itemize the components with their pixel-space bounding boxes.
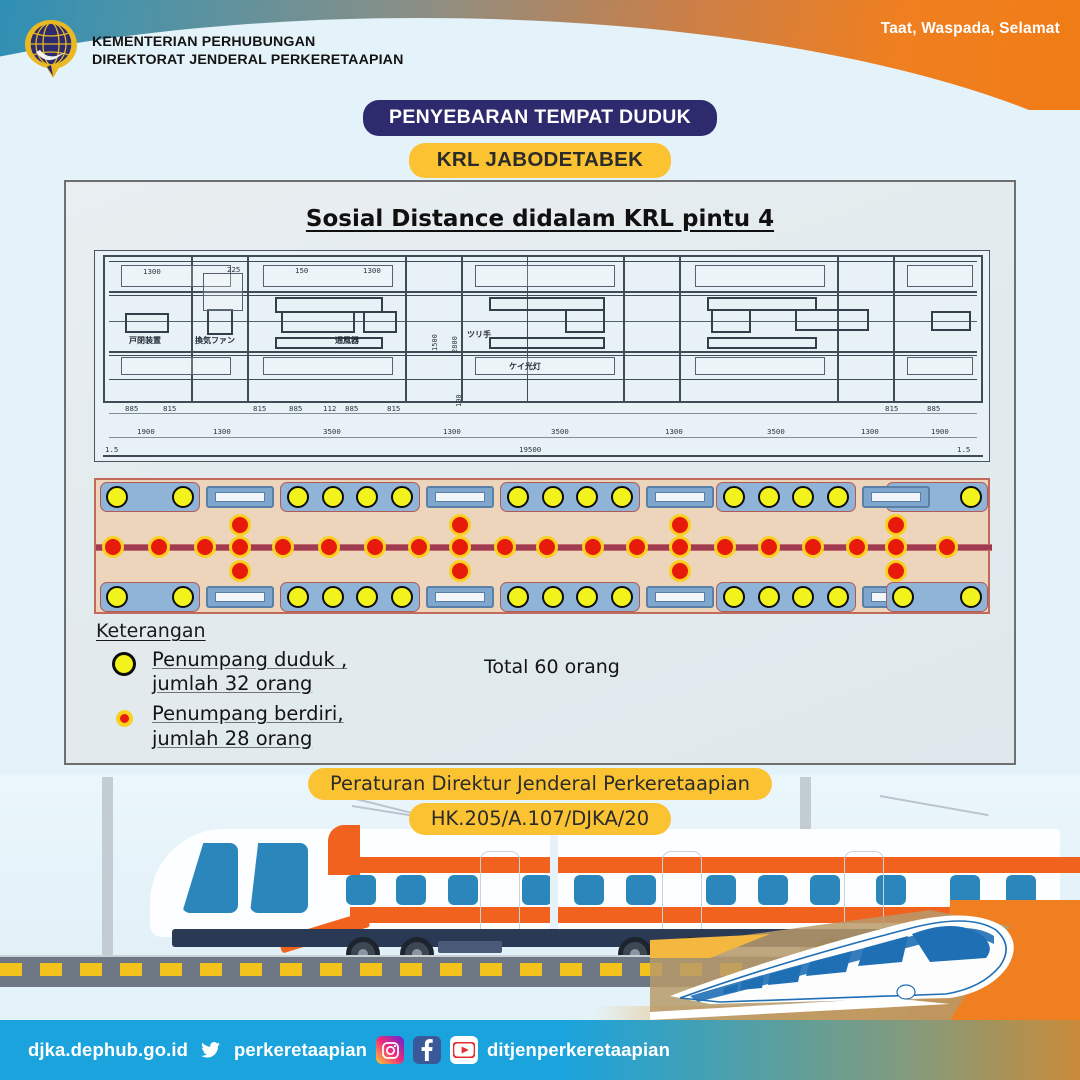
standing-marker <box>318 536 340 558</box>
legend-seated-text: Penumpang duduk , jumlah 32 orang <box>152 648 347 696</box>
bench-bottom-3 <box>500 582 640 612</box>
door-bottom-2 <box>426 586 494 608</box>
seat-marker <box>542 586 564 608</box>
train-window <box>346 875 376 905</box>
footer-twitter-handle[interactable]: perkeretaapian <box>234 1039 367 1061</box>
title-badge-secondary: KRL JABODETABEK <box>409 143 671 178</box>
train-car-gap <box>550 829 558 937</box>
legend-standing-marker-cell <box>96 702 152 727</box>
standing-marker <box>449 514 471 536</box>
bench-top-3 <box>500 482 640 512</box>
drawing-dim-small-1: 815 <box>163 404 176 413</box>
drawing-dim-small-7: 815 <box>885 404 898 413</box>
train-window <box>574 875 604 905</box>
seat-marker <box>827 586 849 608</box>
drawing-dim-small-6: 815 <box>387 404 400 413</box>
legend-row-standing: Penumpang berdiri, jumlah 28 orang <box>96 702 976 750</box>
seat-marker <box>827 486 849 508</box>
standing-marker <box>229 536 251 558</box>
seat-marker <box>576 486 598 508</box>
regulation-line-2: HK.205/A.107/DJKA/20 <box>409 803 671 835</box>
ministry-globe-logo <box>22 18 80 85</box>
door-top-2 <box>426 486 494 508</box>
ministry-line-1: KEMENTERIAN PERHUBUNGAN <box>92 33 403 51</box>
seat-marker <box>542 486 564 508</box>
drawing-dim-small-4: 112 <box>323 404 336 413</box>
door-top-1 <box>206 486 274 508</box>
standing-marker <box>669 560 691 582</box>
drawing-label-jp-4: ケイ光灯 <box>509 361 541 372</box>
standing-marker <box>758 536 780 558</box>
seat-marker <box>287 486 309 508</box>
bench-top-2 <box>280 482 420 512</box>
standing-marker <box>194 536 216 558</box>
standing-marker <box>626 536 648 558</box>
seat-marker <box>391 586 413 608</box>
bench-bottom-4 <box>716 582 856 612</box>
standing-marker <box>885 536 907 558</box>
seat-marker <box>356 486 378 508</box>
train-window <box>396 875 426 905</box>
standing-marker <box>536 536 558 558</box>
train-window <box>448 875 478 905</box>
drawing-dim-vertical-2: 100 <box>455 394 463 407</box>
high-speed-train-graphic <box>650 900 1080 1020</box>
drawing-dim-top-3: 1300 <box>363 266 381 275</box>
main-content-panel: Sosial Distance didalam KRL pintu 4 <box>64 180 1016 765</box>
ministry-line-2: DIREKTORAT JENDERAL PERKERETAAPIAN <box>92 51 403 69</box>
train-windshield-inner <box>250 843 308 913</box>
technical-drawing: 戸閉装置 換気ファン 通風器 ツリ手 ケイ光灯 1500 2800 100 13… <box>94 250 990 462</box>
standing-marker <box>885 560 907 582</box>
seat-marker <box>391 486 413 508</box>
drawing-overall-length: 19500 <box>519 445 541 454</box>
seated-marker-icon <box>112 652 136 676</box>
legend: Keterangan Penumpang duduk , jumlah 32 o… <box>96 620 976 751</box>
standing-marker <box>494 536 516 558</box>
seat-marker <box>172 586 194 608</box>
legend-standing-label: Penumpang berdiri, <box>152 702 344 726</box>
drawing-dim-small-5: 885 <box>345 404 358 413</box>
legend-seated-marker-cell <box>96 648 152 676</box>
train-window <box>522 875 552 905</box>
drawing-label-jp-2: 通風器 <box>335 335 359 346</box>
footer-content: djka.dephub.go.id perkeretaapian ditjenp… <box>0 1036 670 1064</box>
ministry-name: KEMENTERIAN PERHUBUNGAN DIREKTORAT JENDE… <box>92 33 403 69</box>
seat-marker <box>892 586 914 608</box>
legend-seated-count: jumlah 32 orang <box>152 672 347 696</box>
drawing-label-jp-1: 換気ファン <box>195 335 235 346</box>
standing-marker <box>802 536 824 558</box>
standing-marker <box>846 536 868 558</box>
seat-marker <box>322 486 344 508</box>
train-stripe-upper-run <box>350 857 1080 873</box>
seat-marker <box>723 486 745 508</box>
facebook-icon[interactable] <box>413 1036 441 1064</box>
standing-marker <box>714 536 736 558</box>
drawing-dim-large-6: 3500 <box>767 427 785 436</box>
door-top-3 <box>646 486 714 508</box>
seat-marker <box>758 586 780 608</box>
drawing-dim-top-1: 225 <box>227 265 240 274</box>
drawing-label-jp-0: 戸閉装置 <box>129 335 161 346</box>
drawing-dim-large-5: 1300 <box>665 427 683 436</box>
standing-marker <box>669 514 691 536</box>
drawing-label-jp-3: ツリ手 <box>467 329 491 340</box>
standing-marker <box>364 536 386 558</box>
standing-marker <box>229 560 251 582</box>
drawing-dim-large-3: 1300 <box>443 427 461 436</box>
seat-marker <box>507 586 529 608</box>
standing-marker <box>408 536 430 558</box>
seat-marker <box>356 586 378 608</box>
title-badge-primary: PENYEBARAN TEMPAT DUDUK <box>363 100 717 136</box>
drawing-dim-small-3: 885 <box>289 404 302 413</box>
seat-marker <box>106 486 128 508</box>
legend-standing-text: Penumpang berdiri, jumlah 28 orang <box>152 702 344 750</box>
footer-bar: djka.dephub.go.id perkeretaapian ditjenp… <box>0 1020 1080 1080</box>
youtube-icon[interactable] <box>450 1036 478 1064</box>
seat-marker <box>172 486 194 508</box>
standing-marker <box>102 536 124 558</box>
seat-marker <box>960 486 982 508</box>
bench-bottom-1 <box>100 582 200 612</box>
train-bogie <box>438 941 502 953</box>
standing-marker <box>449 560 471 582</box>
seat-marker <box>960 586 982 608</box>
tagline-text: Taat, Waspada, Selamat <box>881 20 1060 38</box>
drawing-corner-left: 1.5 <box>105 445 118 454</box>
seat-marker <box>611 586 633 608</box>
drawing-dim-vertical-1: 2800 <box>451 336 459 353</box>
bench-bottom-2 <box>280 582 420 612</box>
door-top-4 <box>862 486 930 508</box>
drawing-dim-top-0: 1300 <box>143 267 161 276</box>
standing-marker <box>936 536 958 558</box>
panel-heading: Sosial Distance didalam KRL pintu 4 <box>66 206 1014 232</box>
seat-marker <box>723 586 745 608</box>
standing-marker <box>449 536 471 558</box>
seat-marker <box>792 486 814 508</box>
seat-marker <box>287 586 309 608</box>
drawing-dim-small-8: 885 <box>927 404 940 413</box>
bench-top-1 <box>100 482 200 512</box>
drawing-corner-right: 1.5 <box>957 445 970 454</box>
legend-title: Keterangan <box>96 620 976 642</box>
standing-marker <box>885 514 907 536</box>
drawing-dim-top-2: 150 <box>295 266 308 275</box>
seat-marker <box>576 586 598 608</box>
drawing-dim-large-0: 1900 <box>137 427 155 436</box>
drawing-dim-large-7: 1300 <box>861 427 879 436</box>
drawing-dim-large-4: 3500 <box>551 427 569 436</box>
standing-marker <box>669 536 691 558</box>
seat-marker <box>106 586 128 608</box>
seat-marker <box>322 586 344 608</box>
standing-marker <box>272 536 294 558</box>
seat-marker <box>758 486 780 508</box>
drawing-dim-large-2: 3500 <box>323 427 341 436</box>
footer-social-handle[interactable]: ditjenperkeretaapian <box>487 1039 670 1061</box>
footer-website[interactable]: djka.dephub.go.id <box>28 1039 188 1061</box>
drawing-dim-small-2: 815 <box>253 404 266 413</box>
drawing-dim-vertical-0: 1500 <box>431 334 439 351</box>
door-bottom-3 <box>646 586 714 608</box>
regulation-badge-group: Peraturan Direktur Jenderal Perkeretaapi… <box>0 768 1080 835</box>
standing-marker <box>229 514 251 536</box>
title-badge-group: PENYEBARAN TEMPAT DUDUK KRL JABODETABEK <box>0 100 1080 178</box>
standing-marker-icon <box>116 710 133 727</box>
legend-seated-label: Penumpang duduk , <box>152 648 347 672</box>
legend-standing-count: jumlah 28 orang <box>152 727 344 751</box>
bench-bottom-5 <box>886 582 988 612</box>
twitter-icon[interactable] <box>197 1036 225 1064</box>
standing-marker <box>582 536 604 558</box>
train-door-outline <box>480 851 520 937</box>
legend-total: Total 60 orang <box>484 656 620 678</box>
standing-marker <box>148 536 170 558</box>
door-bottom-1 <box>206 586 274 608</box>
seating-diagram <box>94 478 990 614</box>
drawing-dim-large-1: 1300 <box>213 427 231 436</box>
regulation-line-1: Peraturan Direktur Jenderal Perkeretaapi… <box>308 768 772 800</box>
bench-top-4 <box>716 482 856 512</box>
drawing-dim-small-0: 885 <box>125 404 138 413</box>
instagram-icon[interactable] <box>376 1036 404 1064</box>
seat-marker <box>507 486 529 508</box>
drawing-dim-large-8: 1900 <box>931 427 949 436</box>
seat-marker <box>611 486 633 508</box>
seat-marker <box>792 586 814 608</box>
